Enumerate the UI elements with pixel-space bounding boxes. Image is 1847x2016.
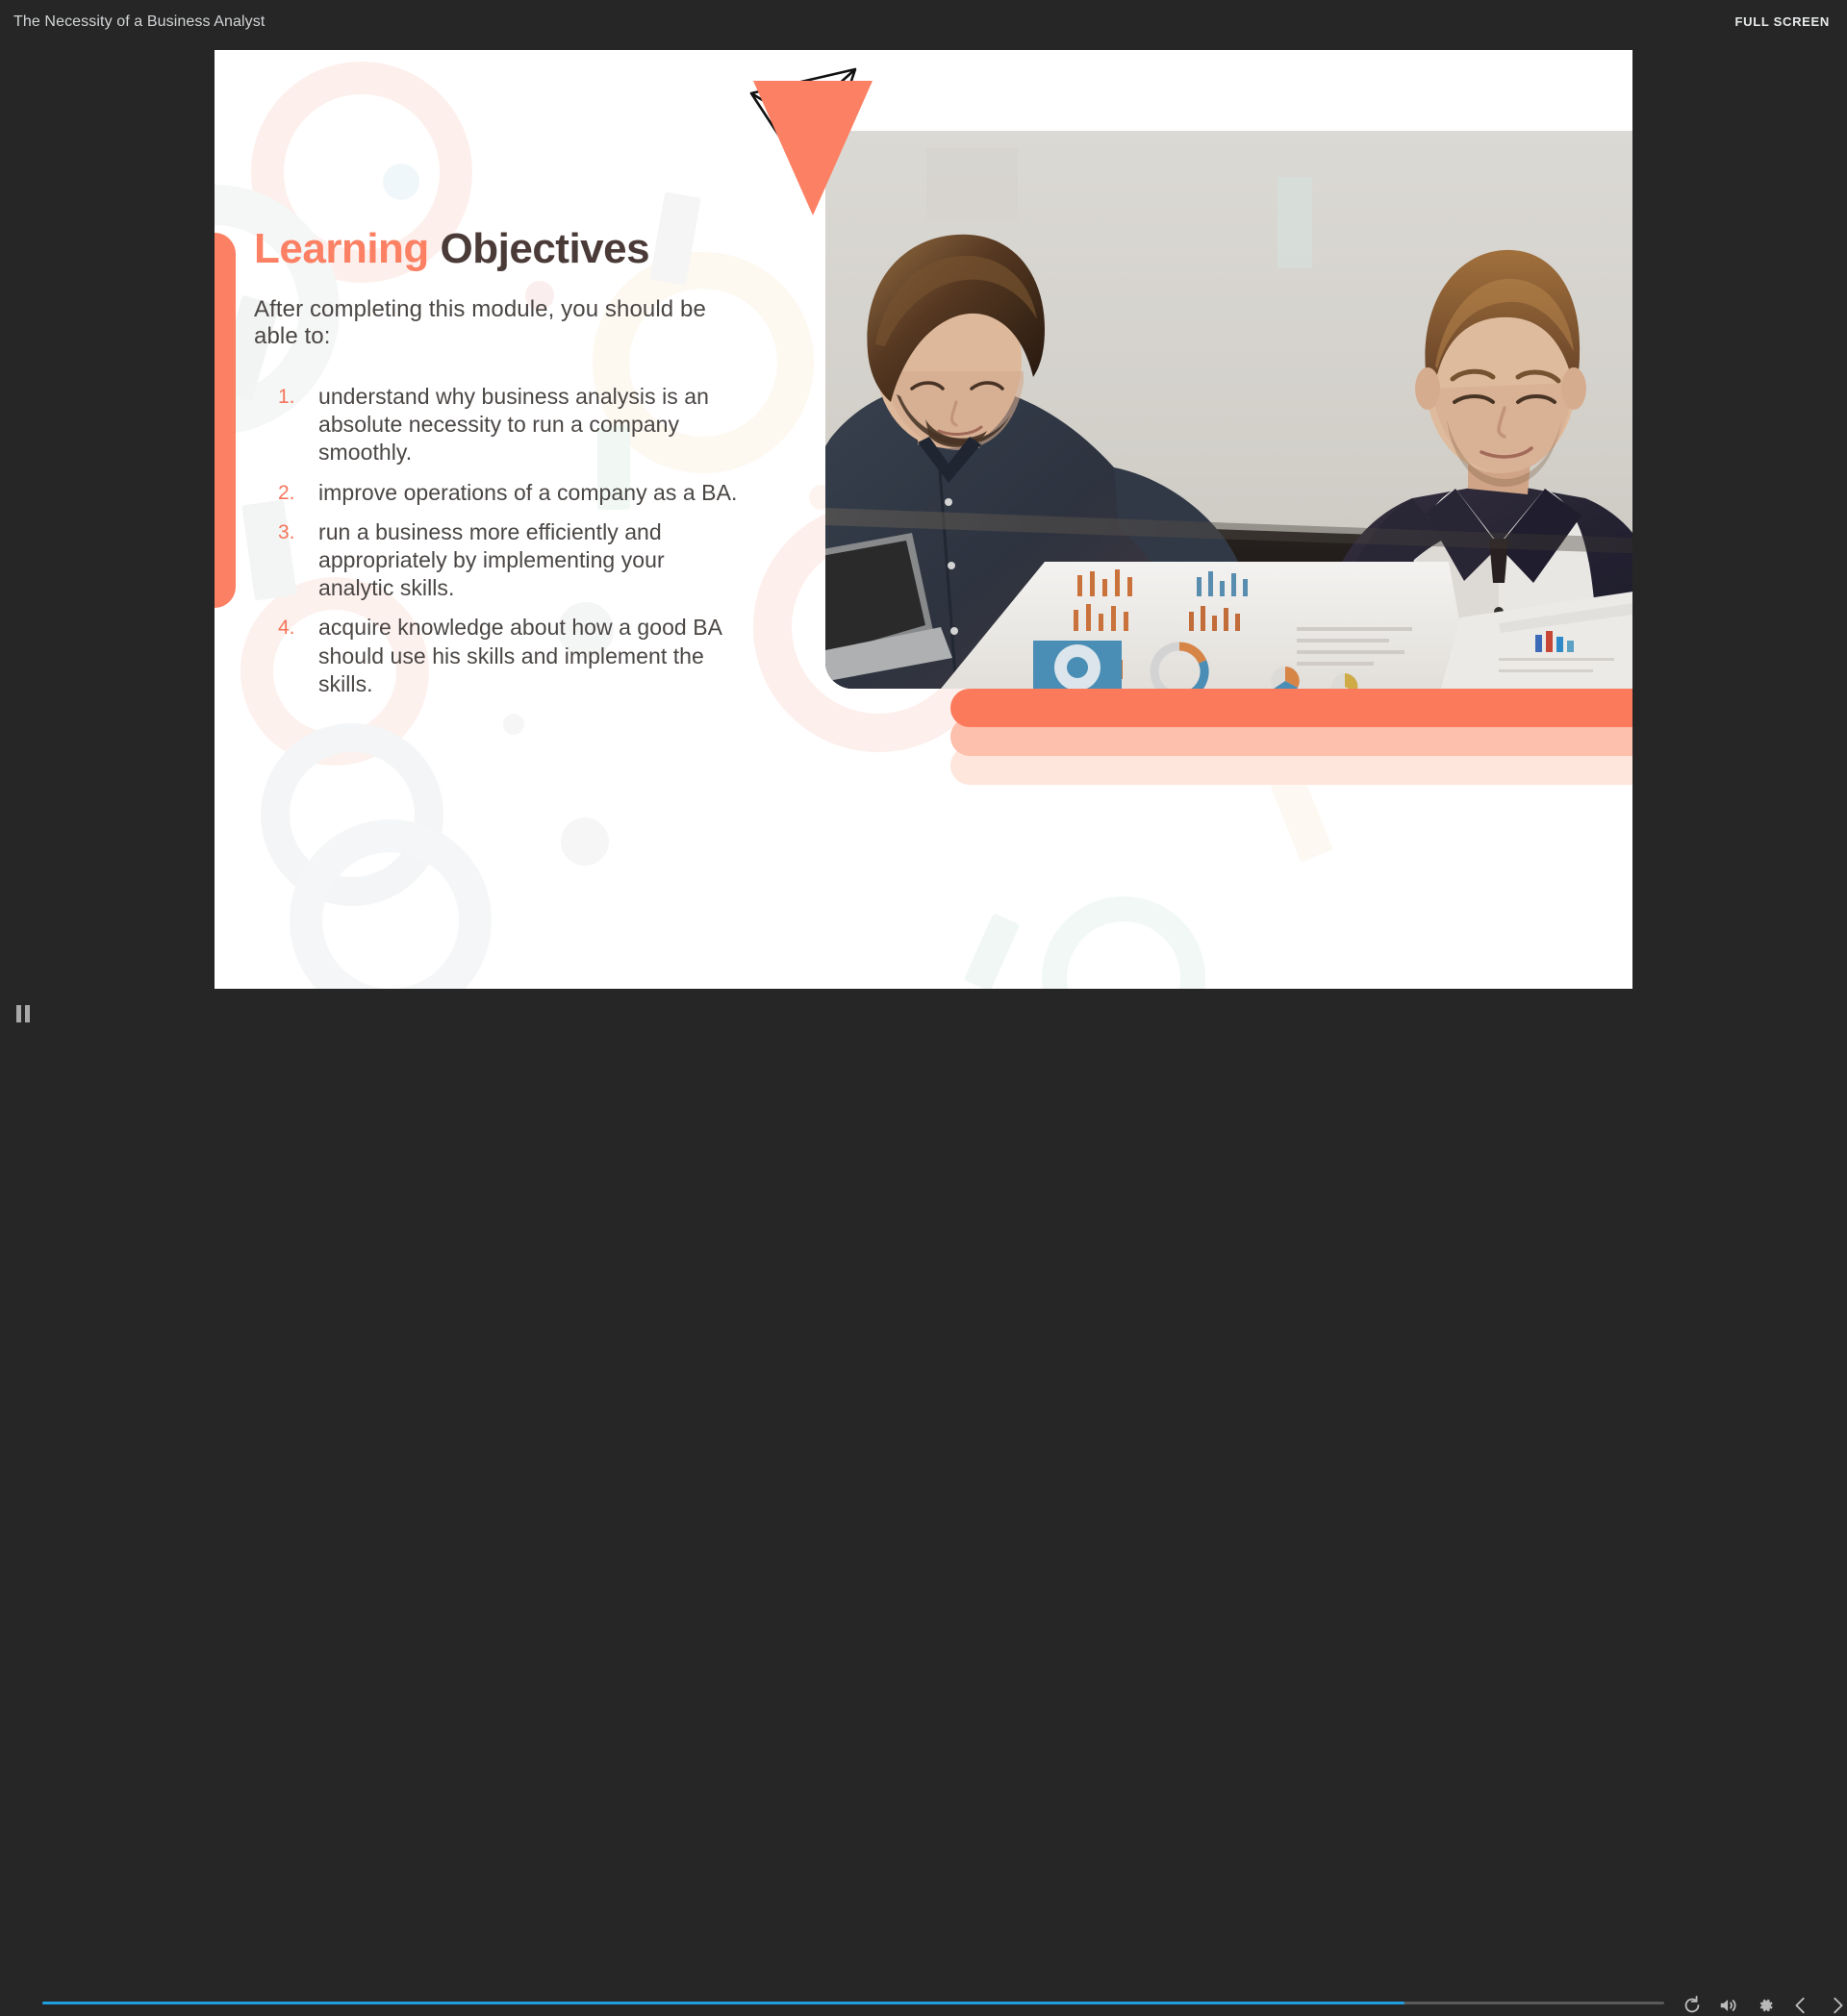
list-item-text: understand why business analysis is an a… [318, 383, 740, 467]
intro-paragraph: After completing this module, you should… [254, 296, 706, 351]
decor-bar-f [964, 913, 1020, 989]
page-title-accent: Learning [254, 225, 429, 272]
decor-ring-mint [1042, 896, 1205, 989]
list-item: 2. improve operations of a company as a … [278, 479, 740, 507]
pause-button[interactable] [13, 1004, 33, 1023]
list-item-number: 4. [278, 614, 318, 698]
decor-dot-e [503, 714, 524, 735]
decor-dot-g [561, 818, 609, 866]
slide-canvas: Learning Objectives After completing thi… [215, 50, 1632, 989]
objectives-list: 1. understand why business analysis is a… [278, 383, 740, 710]
decor-dot-b [383, 164, 419, 200]
decor-ring-grey [261, 723, 443, 906]
decor-bar-e [1270, 772, 1333, 862]
fullscreen-button[interactable]: FULL SCREEN [1735, 14, 1830, 29]
list-item: 1. understand why business analysis is a… [278, 383, 740, 467]
list-item: 4. acquire knowledge about how a good BA… [278, 614, 740, 698]
page-title-rest: Objectives [441, 225, 650, 272]
volume-icon[interactable] [1718, 1995, 1739, 2016]
replay-icon[interactable] [1682, 1995, 1703, 2016]
gear-icon[interactable] [1755, 1995, 1776, 2016]
page-title: Learning Objectives [254, 225, 649, 273]
progress-bar-track[interactable] [42, 2002, 1664, 2004]
decor-ring-grey-2 [290, 819, 492, 989]
player-control-bar [0, 989, 1847, 1039]
list-item: 3. run a business more efficiently and a… [278, 518, 740, 603]
chevron-right-icon[interactable] [1827, 1995, 1844, 2016]
decor-left-coral-slab [215, 233, 236, 608]
decor-bar-d [649, 191, 700, 285]
list-item-text: improve operations of a company as a BA. [318, 479, 737, 507]
top-bar: The Necessity of a Business Analyst FULL… [0, 0, 1847, 50]
progress-bar-fill [42, 2002, 1404, 2004]
list-item-number: 3. [278, 518, 318, 603]
list-item-text: acquire knowledge about how a good BA sh… [318, 614, 740, 698]
decor-triangle-coral [753, 81, 873, 215]
list-item-text: run a business more efficiently and appr… [318, 518, 740, 603]
decor-coral-bar-1 [950, 689, 1632, 727]
chevron-left-icon[interactable] [1790, 1995, 1811, 2016]
list-item-number: 2. [278, 479, 318, 507]
list-item-number: 1. [278, 383, 318, 467]
slide-photo [825, 131, 1632, 689]
decor-triangle-group [742, 54, 934, 237]
course-title: The Necessity of a Business Analyst [13, 13, 265, 31]
